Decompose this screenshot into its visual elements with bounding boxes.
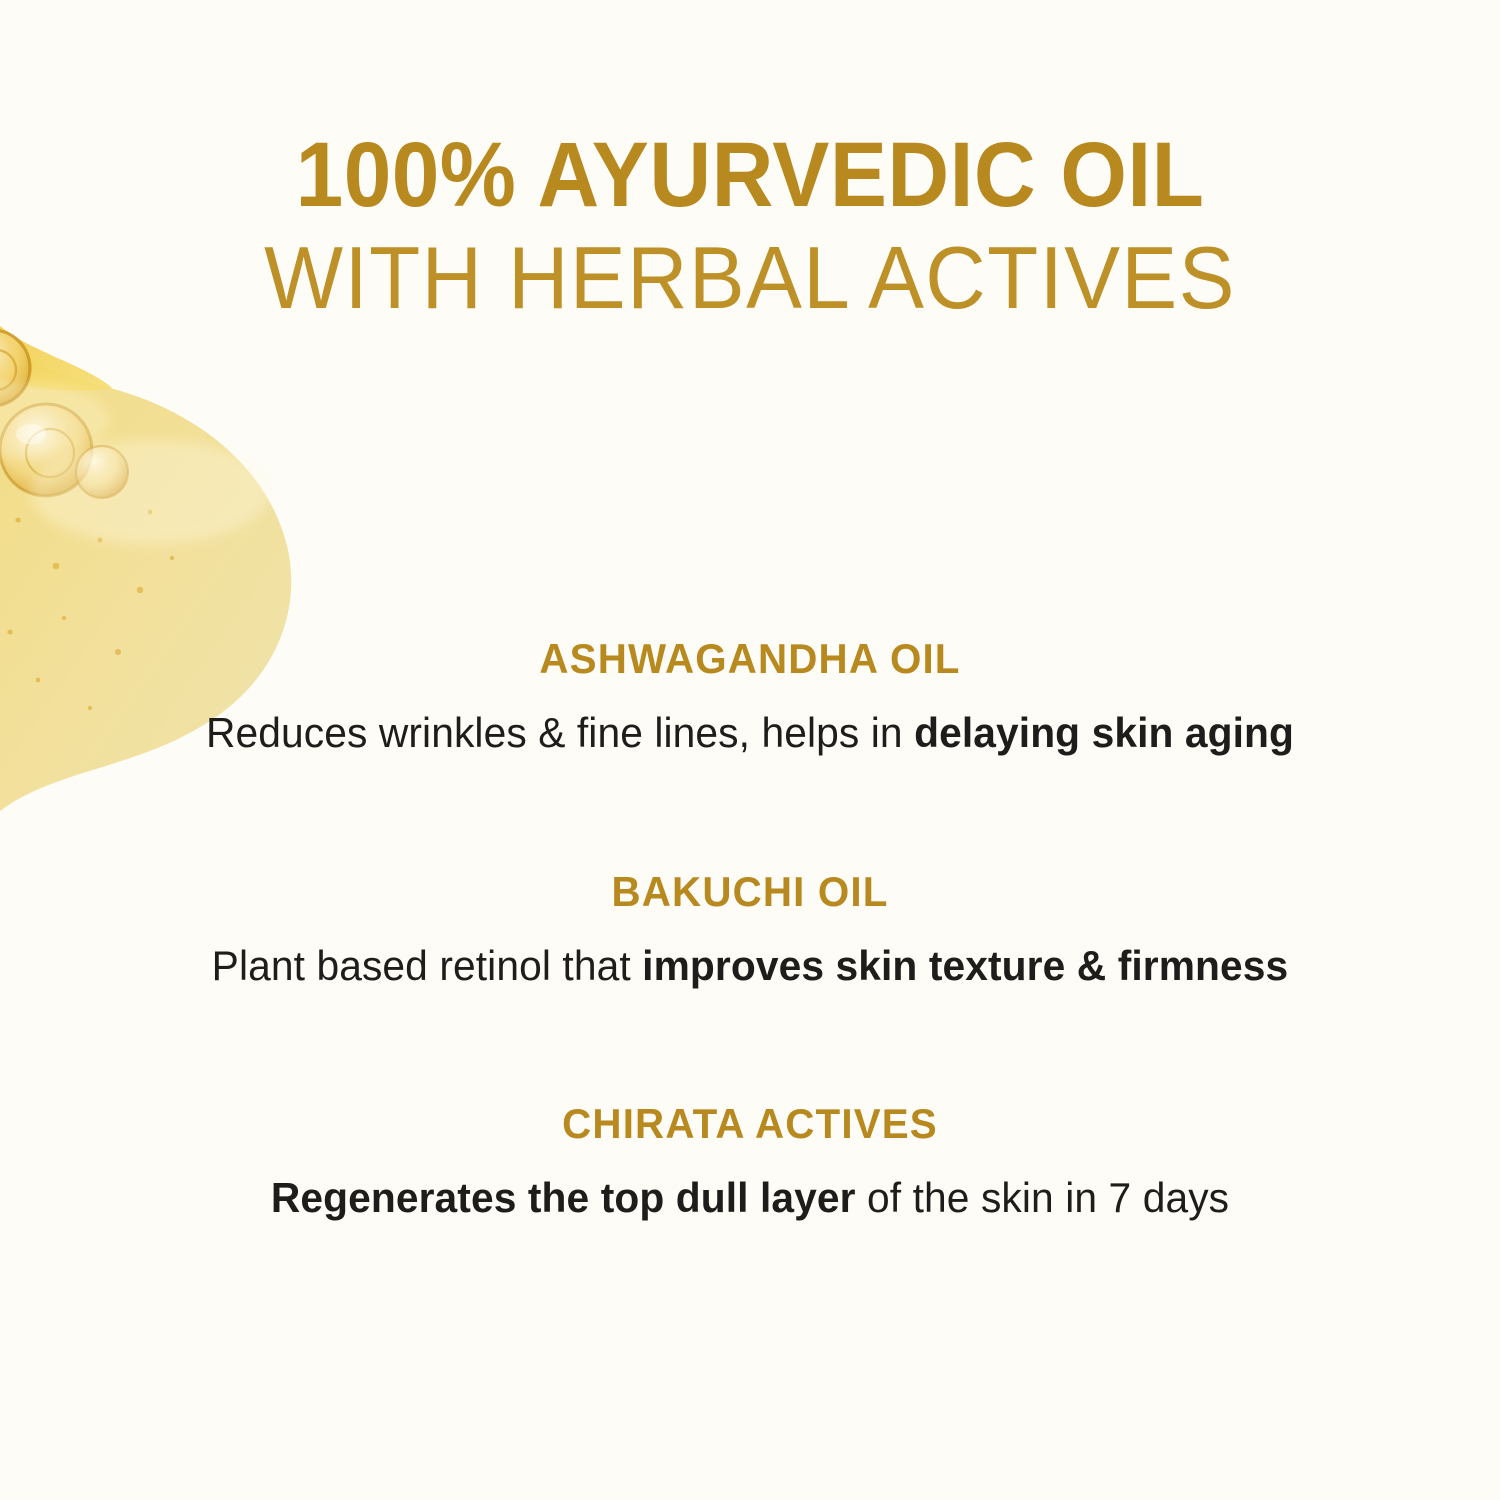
headline-block: 100% AYURVEDIC OIL WITH HERBAL ACTIVES — [0, 128, 1500, 325]
desc-text-tail: of the skin in 7 days — [856, 1174, 1230, 1221]
product-infographic: 100% AYURVEDIC OIL WITH HERBAL ACTIVES A… — [0, 0, 1500, 1500]
ingredient-item: CHIRATA ACTIVES Regenerates the top dull… — [0, 1101, 1500, 1224]
ingredient-title: CHIRATA ACTIVES — [30, 1101, 1470, 1147]
ingredient-item: ASHWAGANDHA OIL Reduces wrinkles & fine … — [0, 636, 1500, 759]
desc-text: Plant based retinol that — [212, 942, 642, 989]
ingredient-description: Regenerates the top dull layer of the sk… — [23, 1173, 1478, 1223]
ingredient-title: BAKUCHI OIL — [30, 869, 1470, 915]
ingredient-description: Reduces wrinkles & fine lines, helps in … — [23, 708, 1478, 758]
desc-text: Reduces wrinkles & fine lines, helps in — [206, 709, 914, 756]
headline-primary: 100% AYURVEDIC OIL — [53, 128, 1448, 224]
ingredient-title: ASHWAGANDHA OIL — [30, 636, 1470, 682]
headline-secondary: WITH HERBAL ACTIVES — [38, 230, 1463, 325]
desc-emphasis: delaying skin aging — [914, 709, 1294, 756]
ingredient-description: Plant based retinol that improves skin t… — [23, 941, 1478, 991]
desc-emphasis: improves skin texture & firmness — [642, 942, 1288, 989]
ingredient-item: BAKUCHI OIL Plant based retinol that imp… — [0, 869, 1500, 992]
ingredient-list: ASHWAGANDHA OIL Reduces wrinkles & fine … — [0, 636, 1500, 1224]
desc-emphasis: Regenerates the top dull layer — [271, 1174, 856, 1221]
